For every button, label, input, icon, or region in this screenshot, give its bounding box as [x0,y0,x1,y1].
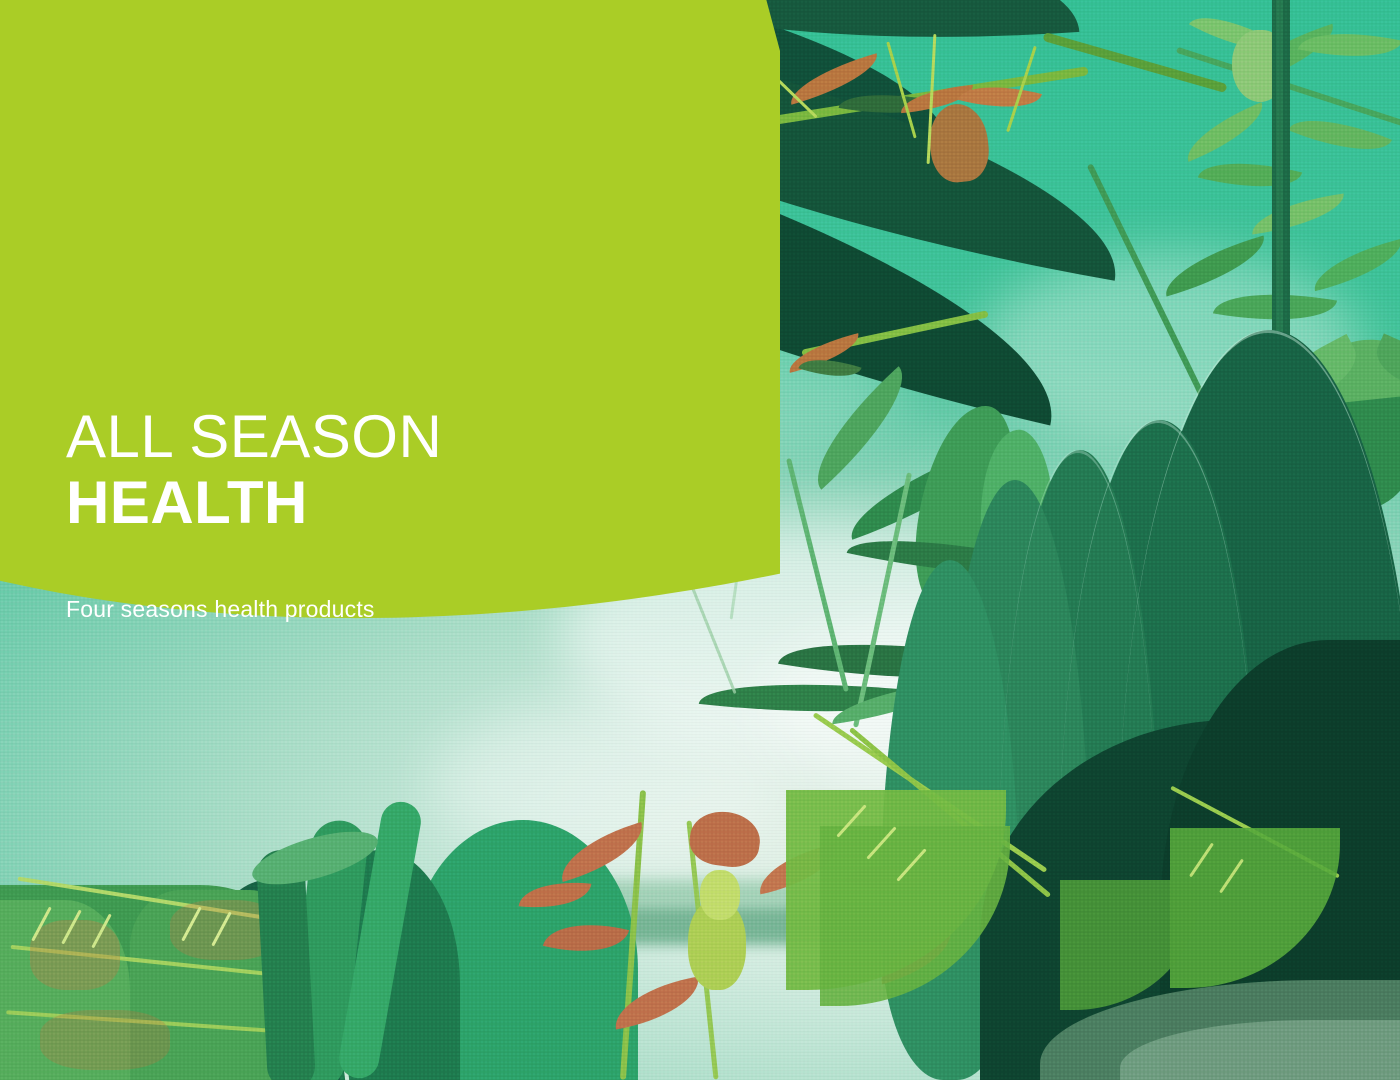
title-line-1: ALL SEASON [66,404,706,470]
poster-canvas: ALL SEASON HEALTH Four seasons health pr… [0,0,1400,1080]
subtitle: Four seasons health products [66,596,706,623]
headline-block: ALL SEASON HEALTH Four seasons health pr… [66,404,706,623]
title-line-2: HEALTH [66,470,706,536]
